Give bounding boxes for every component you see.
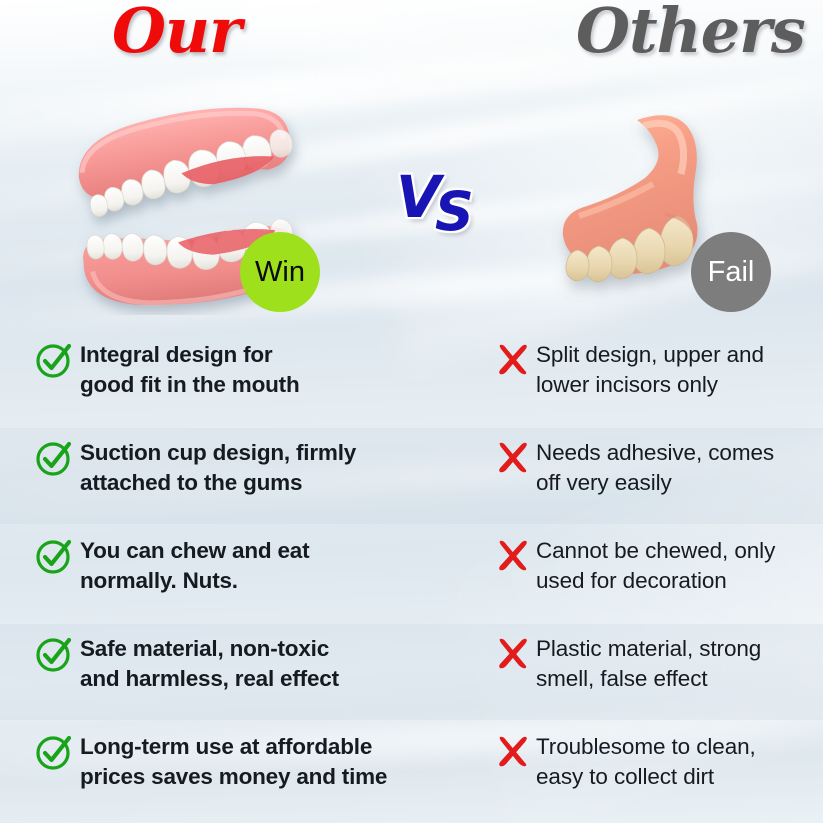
- versus-s: S: [435, 180, 472, 243]
- feature-text-others: Plastic material, strong smell, false ef…: [536, 624, 761, 694]
- x-icon: [495, 733, 531, 769]
- versus-v: V: [396, 163, 439, 231]
- feature-ours: You can chew and eat normally. Nuts.: [34, 526, 484, 596]
- badge-fail: Fail: [691, 232, 771, 312]
- x-icon: [495, 635, 531, 671]
- feature-text-ours: Suction cup design, firmly attached to t…: [80, 428, 356, 498]
- feature-text-others: Cannot be chewed, only used for decorati…: [536, 526, 775, 596]
- check-circle-icon: [34, 340, 74, 380]
- feature-row: Suction cup design, firmly attached to t…: [0, 428, 823, 526]
- feature-ours: Long-term use at affordable prices saves…: [34, 722, 484, 792]
- feature-rows: Integral design for good fit in the mout…: [0, 330, 823, 820]
- x-icon: [495, 537, 531, 573]
- feature-ours: Integral design for good fit in the mout…: [34, 330, 484, 400]
- feature-row: Long-term use at affordable prices saves…: [0, 722, 823, 820]
- check-circle-icon: [34, 634, 74, 674]
- check-circle-icon: [34, 438, 74, 478]
- page-title-ours: Our: [112, 0, 241, 67]
- comparison-poster: Our Others: [0, 0, 823, 823]
- check-circle-icon: [34, 536, 74, 576]
- feature-text-others: Troublesome to clean, easy to collect di…: [536, 722, 756, 792]
- feature-others: Split design, upper and lower incisors o…: [495, 330, 823, 400]
- feature-text-others: Needs adhesive, comes off very easily: [536, 428, 774, 498]
- feature-text-ours: Safe material, non-toxic and harmless, r…: [80, 624, 339, 694]
- feature-text-ours: You can chew and eat normally. Nuts.: [80, 526, 309, 596]
- feature-text-ours: Integral design for good fit in the mout…: [80, 330, 300, 400]
- feature-row: You can chew and eat normally. Nuts. Can…: [0, 526, 823, 624]
- feature-ours: Safe material, non-toxic and harmless, r…: [34, 624, 484, 694]
- badge-win: Win: [240, 232, 320, 312]
- versus-label: VS: [396, 163, 476, 231]
- x-icon: [495, 341, 531, 377]
- feature-ours: Suction cup design, firmly attached to t…: [34, 428, 484, 498]
- feature-text-others: Split design, upper and lower incisors o…: [536, 330, 764, 400]
- feature-row: Safe material, non-toxic and harmless, r…: [0, 624, 823, 722]
- page-title-others: Others: [576, 0, 805, 67]
- check-circle-icon: [34, 732, 74, 772]
- feature-text-ours: Long-term use at affordable prices saves…: [80, 722, 387, 792]
- feature-others: Troublesome to clean, easy to collect di…: [495, 722, 823, 792]
- feature-row: Integral design for good fit in the mout…: [0, 330, 823, 428]
- feature-others: Needs adhesive, comes off very easily: [495, 428, 823, 498]
- x-icon: [495, 439, 531, 475]
- feature-others: Plastic material, strong smell, false ef…: [495, 624, 823, 694]
- feature-others: Cannot be chewed, only used for decorati…: [495, 526, 823, 596]
